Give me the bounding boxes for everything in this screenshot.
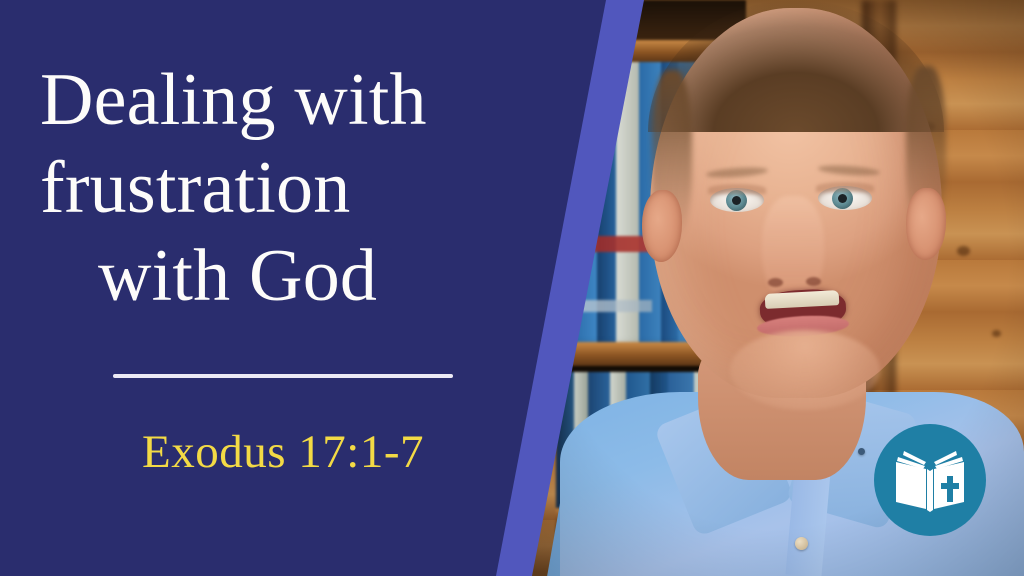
pupil-right [838,194,847,203]
title-card-slide: Dealing with frustration with God Exodus… [0,0,1024,576]
page-title: Dealing with frustration with God [40,56,540,320]
shirt-collar-stud [858,448,865,455]
eyelid-right [816,182,874,192]
shirt-button [795,537,808,550]
title-line-3: with God [40,232,540,320]
ear-right [906,188,946,260]
title-line-1: Dealing with [40,56,540,144]
chin [730,330,880,410]
scripture-reference: Exodus 17:1-7 [43,424,523,480]
eyelid-left [708,184,766,194]
pupil-left [732,196,741,205]
nostril-left [768,278,783,287]
open-bible-with-cross-logo [874,424,986,536]
hair [648,0,944,132]
title-divider-rule [113,374,453,378]
open-book-cross-icon [893,448,967,512]
title-line-2: frustration [40,144,540,232]
nostril-right [806,277,821,286]
